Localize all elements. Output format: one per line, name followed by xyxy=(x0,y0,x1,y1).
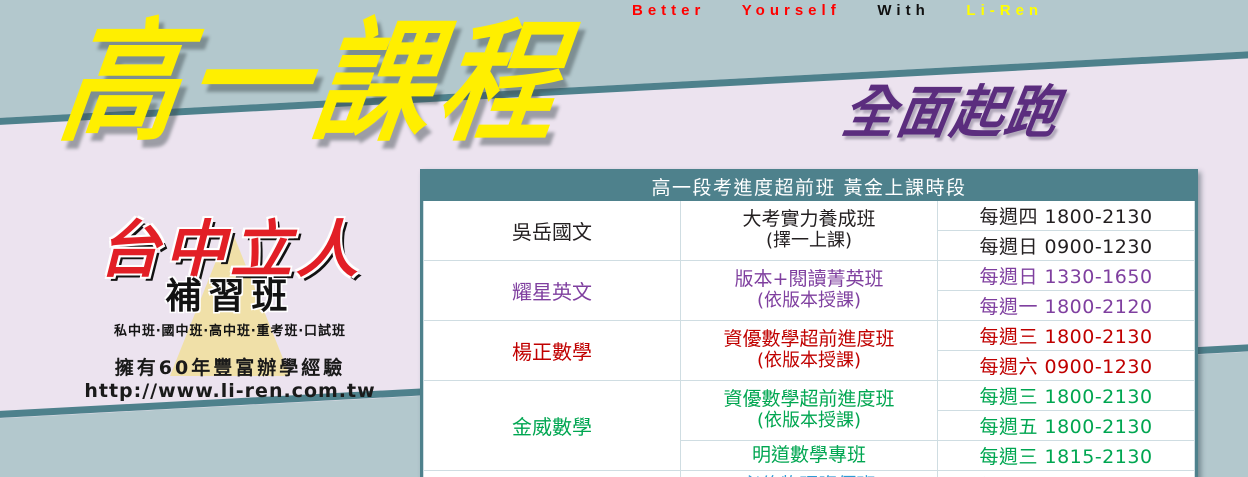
time-cell: 每週日 0900-1230 xyxy=(938,231,1195,261)
course-cell: 必修物理資優班 xyxy=(681,471,938,477)
time-cell: 每週日 1330-1650 xyxy=(938,261,1195,291)
logo-class-list: 私中班‧國中班‧高中班‧重考班‧口試班 xyxy=(40,320,420,339)
teacher-cell: 楊正數學 xyxy=(424,321,681,381)
teacher-cell: 陳碩物理 xyxy=(424,471,681,477)
schedule-card: 高一段考進度超前班 黃金上課時段 吳岳國文大考實力養成班(擇一上課)每週四 18… xyxy=(420,169,1198,477)
course-cell: 明道數學專班 xyxy=(681,441,938,471)
tagline: Better Yourself With Li-Ren xyxy=(632,2,1043,19)
course-title: 版本+閱讀菁英班 xyxy=(735,268,884,290)
table-row: 耀星英文版本+閱讀菁英班(依版本授課)每週日 1330-1650 xyxy=(424,261,1195,291)
schedule-tbody: 吳岳國文大考實力養成班(擇一上課)每週四 1800-2130每週日 0900-1… xyxy=(424,201,1195,477)
teacher-cell: 金威數學 xyxy=(424,381,681,471)
schedule-header-title: 高一段考進度超前班 黃金上課時段 xyxy=(424,173,1195,201)
time-cell: 每週一 1800-2120 xyxy=(938,291,1195,321)
brand-logo: 台中立人 補習班 私中班‧國中班‧高中班‧重考班‧口試班 擁有60年豐富辦學經驗… xyxy=(40,218,420,402)
table-row: 楊正數學資優數學超前進度班(依版本授課)每週三 1800-2130 xyxy=(424,321,1195,351)
tagline-word-with: With xyxy=(877,2,929,19)
schedule-thead: 高一段考進度超前班 黃金上課時段 xyxy=(424,173,1195,201)
time-cell: 每週二 1800-2120 xyxy=(938,471,1195,477)
course-cell: 大考實力養成班(擇一上課) xyxy=(681,201,938,261)
time-cell: 每週四 1800-2130 xyxy=(938,201,1195,231)
table-row: 金威數學資優數學超前進度班(依版本授課)每週三 1800-2130 xyxy=(424,381,1195,411)
course-note: (依版本授課) xyxy=(681,291,937,312)
course-title: 明道數學專班 xyxy=(752,444,866,466)
tagline-word-liren: Li-Ren xyxy=(966,2,1043,19)
table-row: 陳碩物理必修物理資優班每週二 1800-2120 xyxy=(424,471,1195,477)
page-title: 高一課程 xyxy=(52,14,576,153)
course-cell: 資優數學超前進度班(依版本授課) xyxy=(681,321,938,381)
course-title: 大考實力養成班 xyxy=(742,208,875,230)
course-title: 必修物理資優班 xyxy=(742,474,875,477)
poster-canvas: Better Yourself With Li-Ren 高一課程 全面起跑 台中… xyxy=(0,0,1248,477)
schedule-table: 高一段考進度超前班 黃金上課時段 吳岳國文大考實力養成班(擇一上課)每週四 18… xyxy=(423,172,1195,477)
time-cell: 每週六 0900-1230 xyxy=(938,351,1195,381)
course-note: (依版本授課) xyxy=(681,351,937,372)
course-cell: 資優數學超前進度班(依版本授課) xyxy=(681,381,938,441)
teacher-cell: 耀星英文 xyxy=(424,261,681,321)
tagline-word-yourself: Yourself xyxy=(742,2,841,19)
table-row: 吳岳國文大考實力養成班(擇一上課)每週四 1800-2130 xyxy=(424,201,1195,231)
logo-website-url: http://www.li-ren.com.tw xyxy=(40,380,420,402)
logo-name: 台中立人 xyxy=(40,218,420,281)
page-subtitle: 全面起跑 xyxy=(837,66,1068,149)
time-cell: 每週五 1800-2130 xyxy=(938,411,1195,441)
course-title: 資優數學超前進度班 xyxy=(723,388,894,410)
logo-experience: 擁有60年豐富辦學經驗 xyxy=(40,353,420,380)
time-cell: 每週三 1800-2130 xyxy=(938,381,1195,411)
table-header-row: 高一段考進度超前班 黃金上課時段 xyxy=(424,173,1195,201)
course-cell: 版本+閱讀菁英班(依版本授課) xyxy=(681,261,938,321)
logo-subname: 補習班 xyxy=(40,277,420,317)
tagline-word-better: Better xyxy=(632,2,705,19)
time-cell: 每週三 1815-2130 xyxy=(938,441,1195,471)
course-note: (擇一上課) xyxy=(681,231,937,252)
teacher-cell: 吳岳國文 xyxy=(424,201,681,261)
time-cell: 每週三 1800-2130 xyxy=(938,321,1195,351)
course-note: (依版本授課) xyxy=(681,411,937,432)
course-title: 資優數學超前進度班 xyxy=(723,328,894,350)
